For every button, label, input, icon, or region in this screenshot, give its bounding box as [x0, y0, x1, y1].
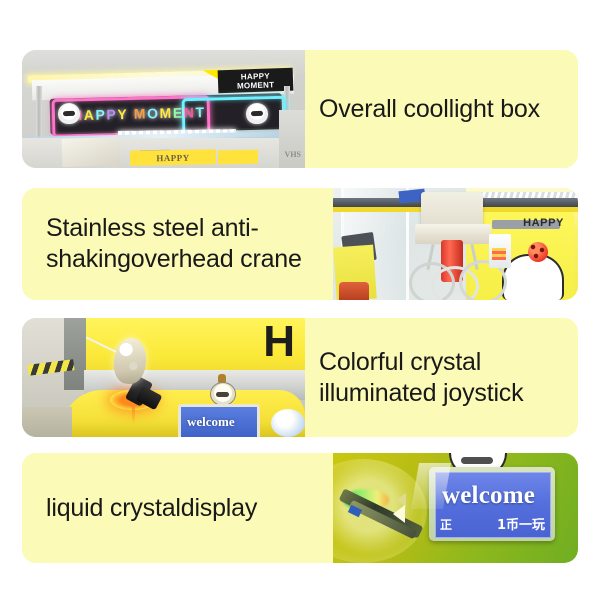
mascot-icon-right	[246, 103, 269, 125]
marquee-letter: T	[195, 104, 206, 120]
badge-line-2: MOMENT	[237, 80, 275, 90]
right-cabinet-side	[279, 110, 305, 168]
prize-box-small	[489, 234, 511, 268]
caption-coollight-box: Overall coollight box	[305, 50, 578, 168]
arrow-highlight	[393, 505, 405, 523]
photo-coollight-box: HAPPY MOMENT HAPPY MOMENT HAPPY VHS	[22, 50, 305, 168]
marquee-letter: O	[147, 105, 160, 121]
photo-crystal-joystick: H welcome	[22, 318, 305, 437]
lcd-corner-right-text: 1币一玩	[497, 514, 545, 533]
caption-text: liquid crystaldisplay	[46, 493, 257, 524]
marquee-letter: E	[173, 105, 184, 121]
coin-slot-face	[210, 382, 236, 406]
prize-toy	[339, 282, 369, 300]
cabinet-letter-h: H	[263, 320, 295, 364]
feature-list-page: HAPPY MOMENT HAPPY MOMENT HAPPY VHS O	[0, 0, 600, 600]
feature-card-overhead-crane[interactable]: Stainless steel anti-shakingoverhead cra…	[22, 188, 578, 300]
deck-lcd-screen: welcome	[178, 404, 260, 437]
lcd-screen: welcome 正 1币一玩	[435, 472, 551, 538]
photo-liquid-crystal-display: welcome 正 1币一玩	[333, 453, 578, 563]
cabinet-label-text: HAPPY	[523, 217, 564, 229]
yellow-label-secondary	[218, 150, 258, 165]
joystick-glow-line	[132, 402, 135, 424]
yellow-label-text: HAPPY	[156, 152, 190, 163]
caption-text: Overall coollight box	[319, 94, 540, 125]
prize-ball	[271, 409, 305, 437]
lcd-corner-left-text: 正	[440, 516, 452, 533]
floor-area	[22, 407, 72, 437]
photo-overhead-crane: HAPPY	[333, 188, 578, 300]
caption-liquid-crystal-display: liquid crystaldisplay	[22, 453, 333, 563]
caption-crystal-joystick: Colorful crystal illuminated joystick	[305, 318, 578, 437]
caption-text: Colorful crystal illuminated joystick	[319, 347, 564, 409]
side-label-text: VHS	[285, 150, 301, 159]
prize-box	[62, 137, 121, 167]
marquee-letter: P	[106, 106, 117, 122]
marquee-letter: M	[134, 105, 148, 121]
caption-overhead-crane: Stainless steel anti-shakingoverhead cra…	[22, 188, 333, 300]
caption-text: Stainless steel anti-shakingoverhead cra…	[46, 213, 319, 275]
deck-lcd-text: welcome	[187, 414, 235, 430]
marquee-letter: N	[184, 104, 196, 120]
yellow-label: HAPPY	[130, 149, 216, 165]
feature-card-liquid-crystal-display[interactable]: liquid crystaldisplay welcome 正 1币一玩	[22, 453, 578, 563]
mascot-icon-left	[58, 103, 81, 125]
mascot-ball-dots	[530, 244, 546, 260]
happy-moment-badge: HAPPY MOMENT	[218, 68, 294, 94]
feature-card-crystal-joystick[interactable]: H welcome Colorful crystal illuminated j…	[22, 318, 578, 437]
feature-card-coollight-box[interactable]: HAPPY MOMENT HAPPY MOMENT HAPPY VHS O	[22, 50, 578, 168]
marquee-letter: M	[159, 105, 173, 121]
marquee-letter: Y	[117, 106, 128, 122]
lcd-welcome-text: welcome	[442, 483, 535, 508]
marquee-letter: A	[84, 107, 96, 123]
